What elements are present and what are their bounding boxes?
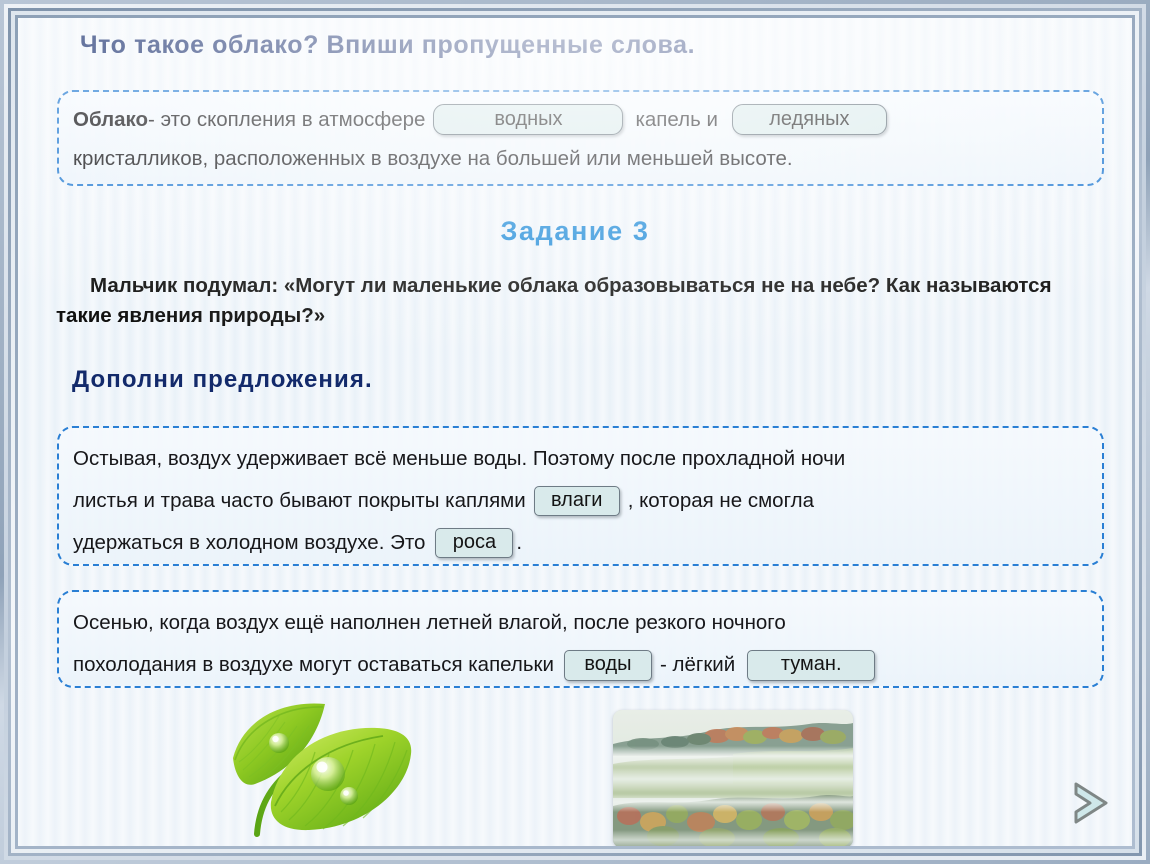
water-droplet-large bbox=[311, 757, 345, 791]
dew-text-b: , которая не смогла bbox=[628, 489, 814, 513]
mist-line-1: Осенью, когда воздух ещё наполнен летней… bbox=[71, 602, 1088, 644]
dew-line-2: листья и трава часто бывают покрыты капл… bbox=[71, 480, 1088, 522]
dew-sentence-panel: Остывая, воздух удерживает всё меньше во… bbox=[57, 426, 1104, 566]
mist-text-a: похолодания в воздухе могут оставаться к… bbox=[73, 653, 554, 677]
mist-sentence-panel: Осенью, когда воздух ещё наполнен летней… bbox=[57, 590, 1104, 688]
page-title: Что такое облако? Впиши пропущенные слов… bbox=[80, 31, 695, 60]
water-droplet-small-top bbox=[269, 733, 289, 753]
next-slide-button[interactable] bbox=[1060, 774, 1118, 832]
leaves-illustration bbox=[213, 696, 443, 846]
answer-chip-water[interactable]: водных bbox=[433, 104, 623, 135]
cloud-definition-line-2: кристалликов, расположенных в воздухе на… bbox=[73, 139, 1088, 178]
cloud-definition-text-b: капель и bbox=[635, 108, 717, 132]
water-droplet-small-bottom bbox=[340, 787, 358, 805]
answer-chip-fog[interactable]: туман. bbox=[747, 650, 875, 681]
answer-chip-moisture[interactable]: влаги bbox=[534, 486, 620, 516]
instruction-heading: Дополни предложения. bbox=[72, 366, 373, 394]
boy-question-text: Мальчик подумал: «Могут ли маленькие обл… bbox=[56, 271, 1096, 332]
cloud-term-label: Облако bbox=[73, 108, 148, 132]
slide-frame: Что такое облако? Впиши пропущенные слов… bbox=[0, 0, 1150, 864]
answer-chip-dew[interactable]: роса bbox=[435, 528, 513, 558]
fog-landscape-photo bbox=[613, 710, 853, 846]
mist-text-b: - лёгкий bbox=[660, 653, 735, 677]
answer-chip-water-drops[interactable]: воды bbox=[564, 650, 652, 681]
dew-line-3: удержаться в холодном воздухе. Это роса … bbox=[71, 522, 1088, 564]
dew-text-a: листья и трава часто бывают покрыты капл… bbox=[73, 489, 526, 513]
dew-text-c: удержаться в холодном воздухе. Это bbox=[73, 531, 425, 555]
cloud-definition-line-1: Облако - это скопления в атмосфере водны… bbox=[73, 100, 1088, 139]
answer-chip-ice[interactable]: ледяных bbox=[732, 104, 887, 135]
dew-line-1: Остывая, воздух удерживает всё меньше во… bbox=[71, 438, 1088, 480]
cloud-definition-panel: Облако - это скопления в атмосфере водны… bbox=[57, 90, 1104, 186]
slide-content-area: Что такое облако? Впиши пропущенные слов… bbox=[18, 18, 1132, 846]
mist-line-2: похолодания в воздухе могут оставаться к… bbox=[71, 644, 1088, 686]
dew-text-d: . bbox=[516, 531, 522, 555]
chevron-right-icon bbox=[1076, 784, 1106, 822]
cloud-definition-text-a: - это скопления в атмосфере bbox=[148, 108, 425, 132]
task-heading: Задание 3 bbox=[18, 216, 1132, 247]
